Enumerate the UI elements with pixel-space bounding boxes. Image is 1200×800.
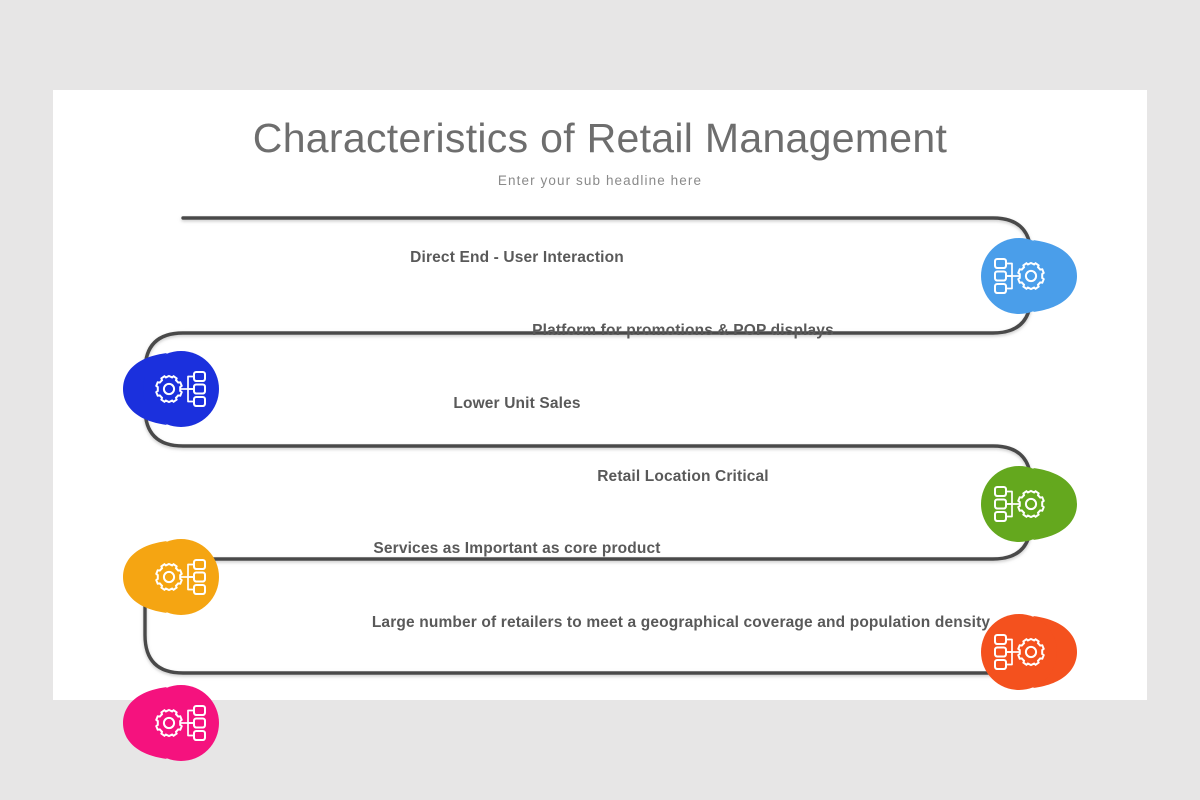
process-connector-line: [145, 218, 1031, 673]
gear-icon: [156, 564, 181, 590]
slide-card: Characteristics of Retail Management Ent…: [53, 90, 1147, 700]
step-node-6[interactable]: [143, 685, 219, 761]
step-label-4: Retail Location Critical: [219, 468, 1147, 486]
gear-icon: [1018, 491, 1043, 517]
serpentine-process-diagram: Direct End - User Interaction: [53, 90, 1147, 700]
step-label-3: Lower Unit Sales: [53, 395, 981, 413]
step-node-2[interactable]: [143, 351, 219, 427]
gear-icon: [1018, 263, 1043, 289]
org-chart-gear-icon: [143, 351, 219, 427]
step-label-6: Large number of retailers to meet a geog…: [221, 614, 1141, 632]
step-node-1[interactable]: [981, 238, 1057, 314]
org-chart-gear-icon: [143, 685, 219, 761]
gear-icon: [1018, 639, 1043, 665]
org-chart-gear-icon: [981, 238, 1057, 314]
step-label-5: Services as Important as core product: [53, 540, 981, 558]
gear-icon: [156, 710, 181, 736]
step-label-2: Platform for promotions & POP displays: [219, 322, 1147, 340]
step-label-1: Direct End - User Interaction: [53, 249, 981, 267]
